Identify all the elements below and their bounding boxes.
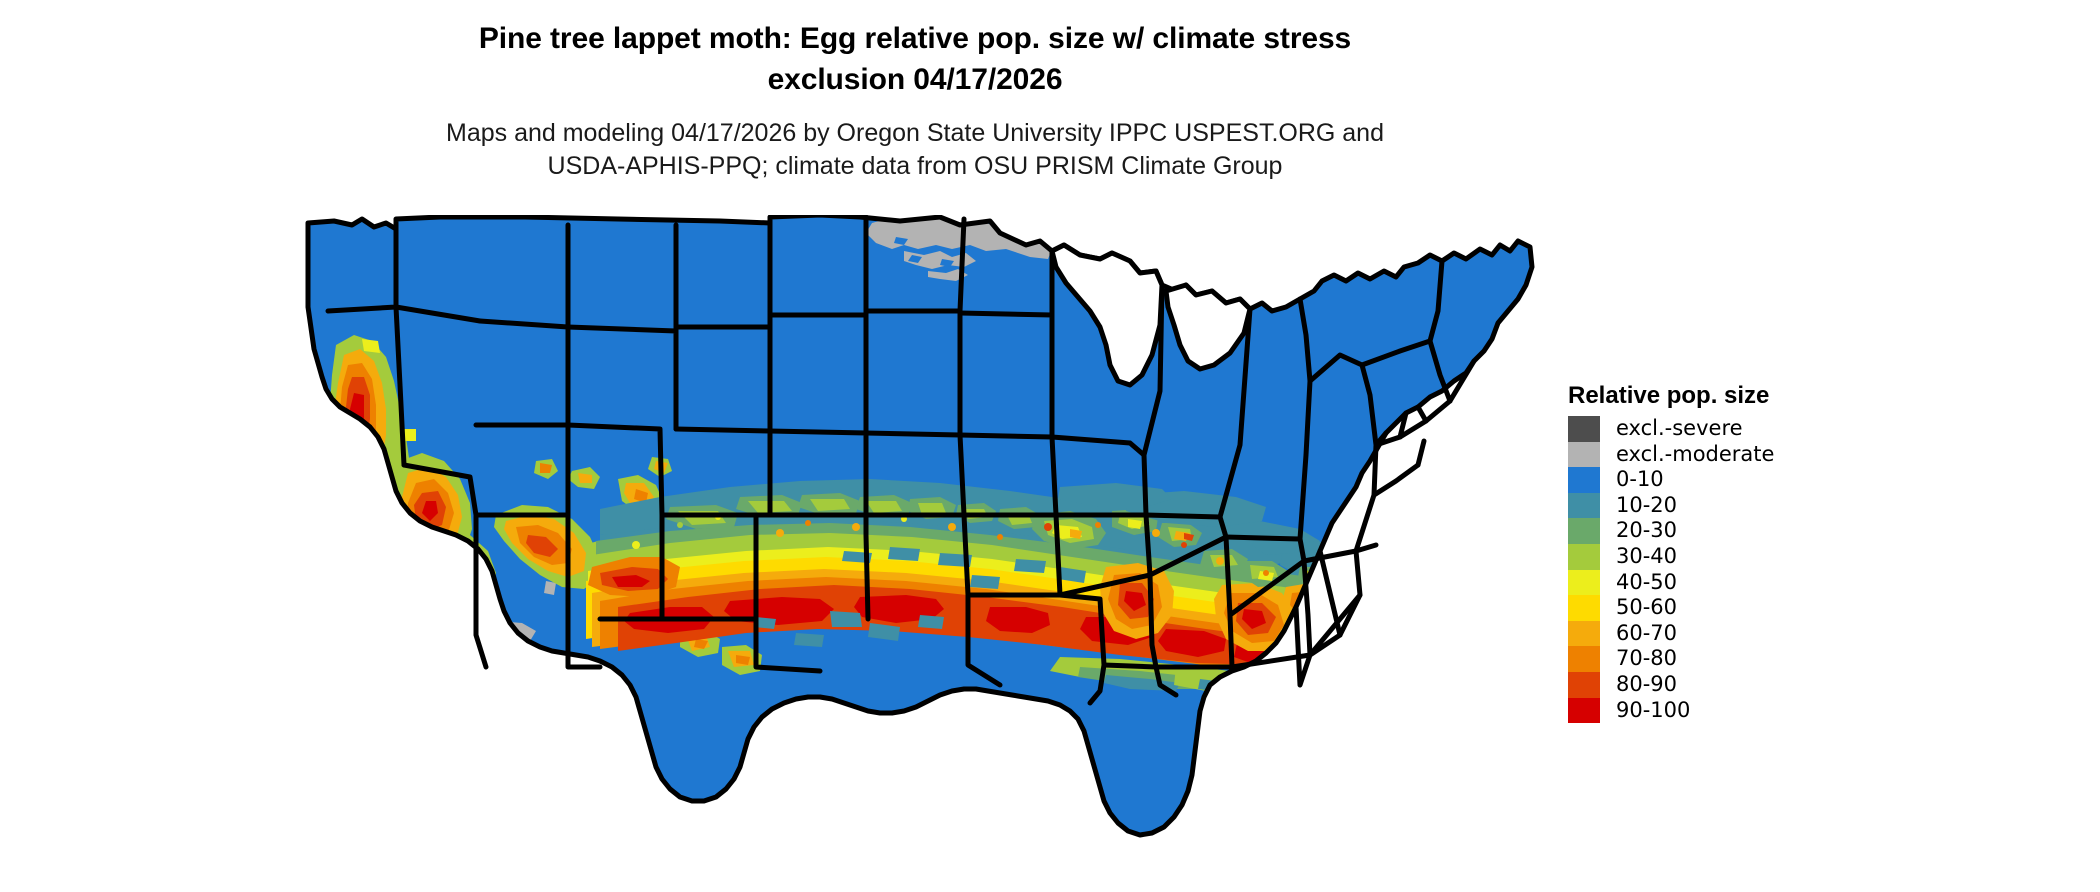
legend-color-swatch xyxy=(1568,416,1600,442)
legend-item[interactable]: 20-30 xyxy=(1568,518,1898,544)
legend-item[interactable]: 0-10 xyxy=(1568,467,1898,493)
legend-item-label: 40-50 xyxy=(1616,570,1677,596)
legend-color-swatch xyxy=(1568,621,1600,647)
us-choropleth-map xyxy=(300,215,1540,875)
page-subtitle: Maps and modeling 04/17/2026 by Oregon S… xyxy=(0,117,1830,183)
legend-color-swatch xyxy=(1568,698,1600,724)
legend-color-swatch xyxy=(1568,493,1600,519)
legend-item[interactable]: 80-90 xyxy=(1568,672,1898,698)
page-title: Pine tree lappet moth: Egg relative pop.… xyxy=(0,18,1830,100)
legend-item-label: 90-100 xyxy=(1616,698,1690,724)
title-block: Pine tree lappet moth: Egg relative pop.… xyxy=(0,18,1830,100)
legend-item[interactable]: 50-60 xyxy=(1568,595,1898,621)
legend-item-label: 70-80 xyxy=(1616,646,1677,672)
legend-title: Relative pop. size xyxy=(1568,382,1898,410)
legend-color-swatch xyxy=(1568,672,1600,698)
map-svg xyxy=(300,215,1540,875)
legend-item[interactable]: 10-20 xyxy=(1568,493,1898,519)
legend-item[interactable]: excl.-severe xyxy=(1568,416,1898,442)
legend-item-label: 80-90 xyxy=(1616,672,1677,698)
legend-item-label: 0-10 xyxy=(1616,467,1664,493)
legend-item[interactable]: 90-100 xyxy=(1568,698,1898,724)
legend-color-swatch xyxy=(1568,570,1600,596)
legend-item[interactable]: 40-50 xyxy=(1568,570,1898,596)
legend-item-label: excl.-moderate xyxy=(1616,442,1774,468)
legend-item-label: 20-30 xyxy=(1616,518,1677,544)
legend-item-label: 10-20 xyxy=(1616,493,1677,519)
legend-item[interactable]: excl.-moderate xyxy=(1568,442,1898,468)
legend-item-label: 50-60 xyxy=(1616,595,1677,621)
legend-color-swatch xyxy=(1568,467,1600,493)
legend-item[interactable]: 60-70 xyxy=(1568,621,1898,647)
map-page: Pine tree lappet moth: Egg relative pop.… xyxy=(0,0,2100,892)
legend-item-label: 30-40 xyxy=(1616,544,1677,570)
legend-item[interactable]: 30-40 xyxy=(1568,544,1898,570)
legend-row-list: excl.-severeexcl.-moderate0-1010-2020-30… xyxy=(1568,416,1898,723)
legend-item-label: excl.-severe xyxy=(1616,416,1743,442)
legend-color-swatch xyxy=(1568,518,1600,544)
legend-color-swatch xyxy=(1568,442,1600,468)
legend-color-swatch xyxy=(1568,595,1600,621)
legend-color-swatch xyxy=(1568,646,1600,672)
map-legend: Relative pop. size excl.-severeexcl.-mod… xyxy=(1568,382,1898,723)
legend-item-label: 60-70 xyxy=(1616,621,1677,647)
legend-item[interactable]: 70-80 xyxy=(1568,646,1898,672)
subtitle-block: Maps and modeling 04/17/2026 by Oregon S… xyxy=(0,117,1830,183)
legend-color-swatch xyxy=(1568,544,1600,570)
